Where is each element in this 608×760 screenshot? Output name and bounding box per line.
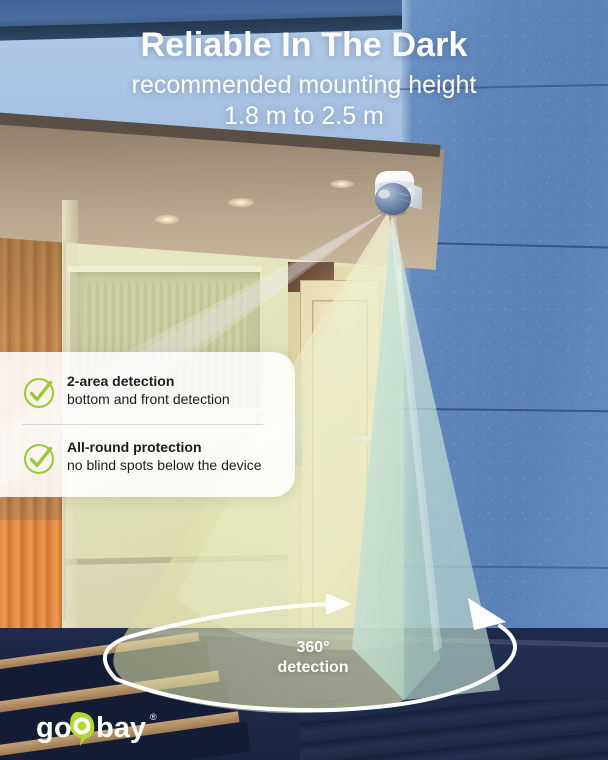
logo-text-part2: o (54, 712, 72, 744)
logo-bubble-shape (70, 712, 94, 746)
feature-description: no blind spots below the device (67, 457, 262, 475)
feature-title: 2-area detection (67, 373, 230, 391)
feature-item-all-round-protection: All-round protection no blind spots belo… (0, 434, 281, 481)
pir-motion-sensor (366, 168, 428, 226)
sweep-arc-path-lower (116, 626, 515, 710)
headline-subtitle-line-2: 1.8 m to 2.5 m (0, 102, 608, 131)
sensor-drop-shadow (379, 210, 407, 216)
door-handle-plate (368, 430, 376, 452)
product-marketing-image: Reliable In The Dark recommended mountin… (0, 0, 608, 760)
page-title: Reliable In The Dark (0, 26, 608, 65)
sensor-lens-highlight (378, 190, 390, 199)
recessed-downlight (330, 180, 354, 188)
feature-title: All-round protection (67, 439, 262, 457)
sweep-arrow-head-right (326, 593, 352, 615)
feature-text: All-round protection no blind spots belo… (67, 439, 262, 474)
wall-niche-lip (68, 266, 262, 272)
feature-text: 2-area detection bottom and front detect… (67, 373, 230, 408)
feature-divider (22, 424, 263, 425)
sweep-arc-path (105, 604, 330, 679)
feature-item-2-area-detection: 2-area detection bottom and front detect… (0, 368, 281, 415)
feature-description: bottom and front detection (67, 391, 230, 409)
logo-text-part1: g (36, 712, 54, 744)
check-circle-icon (22, 376, 56, 410)
logo-trademark: ® (150, 712, 157, 722)
recessed-downlight (228, 198, 254, 207)
check-circle-icon (22, 442, 56, 476)
headline-subtitle-line-1: recommended mounting height (0, 71, 608, 100)
feature-callout-card: 2-area detection bottom and front detect… (0, 352, 295, 497)
goobay-logo: g o bay ® (34, 706, 174, 746)
logo-text-part4: bay (96, 712, 146, 744)
recessed-downlight (155, 215, 179, 224)
headline-block: Reliable In The Dark recommended mountin… (0, 26, 608, 131)
